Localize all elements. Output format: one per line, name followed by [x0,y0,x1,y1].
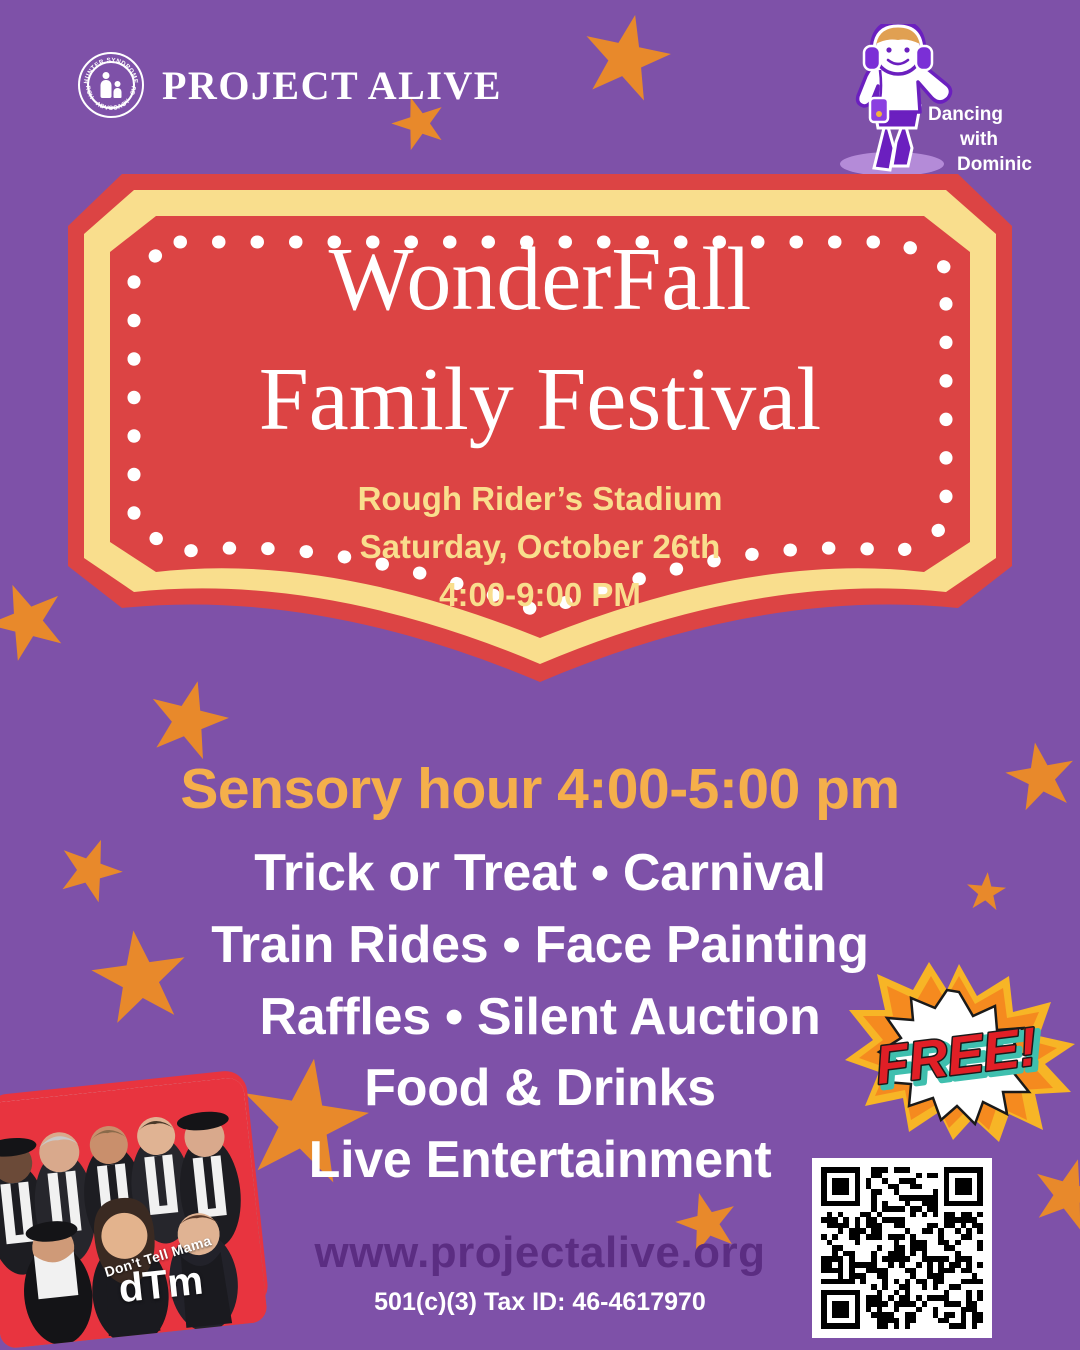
comic-starburst-icon: FREE! FREE! [843,962,1075,1142]
dwd-line-2: with [926,127,1032,152]
festival-title-line-2: Family Festival [259,340,822,460]
hunter-syndrome-seal-icon: HUNTER SYNDROME RESEARCH • ADVOCACY • SU… [78,52,144,118]
date-label: Saturday, October 26th [358,523,723,571]
free-admission-badge: FREE! FREE! [843,962,1075,1142]
project-alive-wordmark: PROJECT ALIVE [162,62,502,109]
badge-content: WonderFall Family Festival Rough Rider’s… [62,168,1018,688]
time-label: 4:00-9:00 PM [358,571,723,619]
dancing-with-dominic-logo: Dancing with Dominic [828,24,1038,184]
activity-line: Trick or Treat • Carnival [0,838,1080,910]
sensory-hour-label: Sensory hour 4:00-5:00 pm [0,756,1080,822]
tax-id-label: 501(c)(3) Tax ID: 46-4617970 [0,1288,1080,1317]
dancing-with-dominic-wordmark: Dancing with Dominic [926,102,1032,177]
project-alive-logo: HUNTER SYNDROME RESEARCH • ADVOCACY • SU… [78,52,502,118]
festival-title-line-1: WonderFall [259,220,822,340]
website-url[interactable]: www.projectalive.org [0,1228,1080,1278]
parent-child-figure-icon [101,72,122,98]
festival-title: WonderFall Family Festival [259,220,822,459]
event-poster: HUNTER SYNDROME RESEARCH • ADVOCACY • SU… [0,0,1080,1350]
dwd-line-1: Dancing [928,102,1032,127]
venue-label: Rough Rider’s Stadium [358,475,723,523]
festival-title-badge: WonderFall Family Festival Rough Rider’s… [62,168,1018,688]
event-details: Rough Rider’s Stadium Saturday, October … [358,475,723,619]
decorative-star-icon [574,6,678,110]
